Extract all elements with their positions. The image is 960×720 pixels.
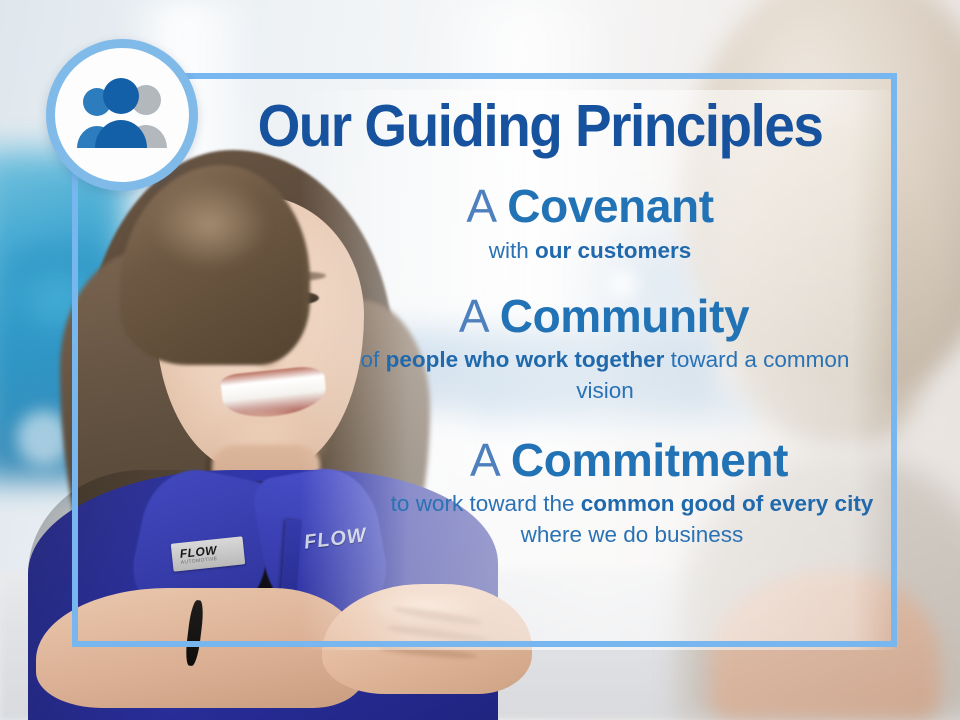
- detail-plain-1: to work toward the: [391, 491, 581, 516]
- principle-article: A: [466, 180, 494, 232]
- principle-detail: to work toward the common good of every …: [300, 489, 880, 549]
- principle-keyword: Commitment: [511, 434, 788, 486]
- principle-detail: with our customers: [300, 236, 880, 266]
- page-title: Our Guiding Principles: [233, 97, 847, 156]
- principle-keyword: Covenant: [507, 180, 713, 232]
- detail-plain-2: where we do business: [521, 522, 744, 547]
- principle-heading: A Community: [300, 292, 880, 342]
- principle-commitment: A Commitment to work toward the common g…: [300, 436, 880, 550]
- principle-heading: A Covenant: [300, 182, 880, 232]
- principle-community: A Community of people who work together …: [300, 292, 880, 406]
- detail-plain-1: of: [361, 347, 386, 372]
- principle-covenant: A Covenant with our customers: [300, 182, 880, 266]
- principle-heading: A Commitment: [300, 436, 880, 486]
- principle-keyword: Community: [500, 290, 749, 342]
- people-group-icon: [70, 78, 174, 152]
- principle-detail: of people who work together toward a com…: [300, 345, 880, 405]
- detail-bold-1: common good of every city: [581, 491, 874, 516]
- detail-bold-1: people who work together: [386, 347, 665, 372]
- guiding-principles-graphic: FLOW AUTOMOTIVE FLOW: [0, 0, 960, 720]
- principle-article: A: [459, 290, 487, 342]
- people-group-badge: [46, 39, 198, 191]
- principles-list: A Covenant with our customers A Communit…: [300, 182, 880, 558]
- detail-bold-1: our customers: [535, 238, 691, 263]
- principle-article: A: [470, 434, 498, 486]
- detail-plain-1: with: [489, 238, 535, 263]
